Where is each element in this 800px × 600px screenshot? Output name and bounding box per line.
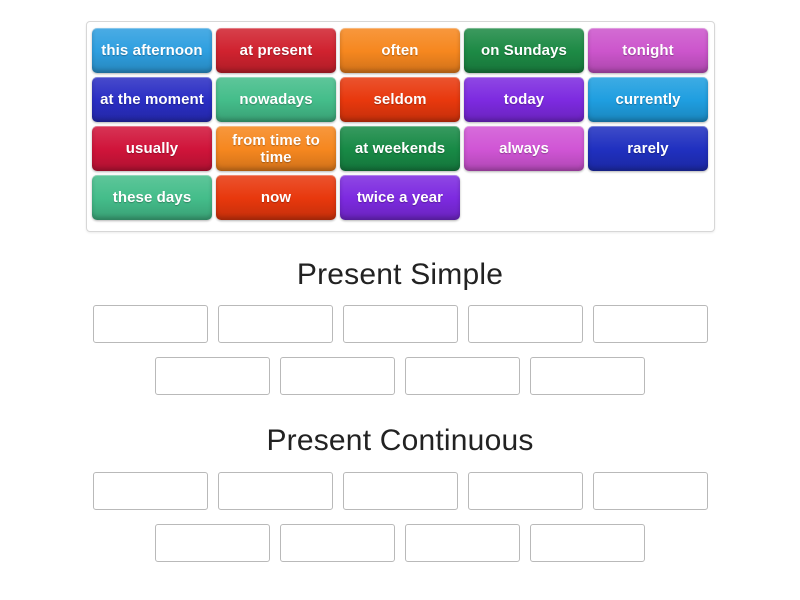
dropzone-slot[interactable] — [468, 305, 583, 343]
dropzone-row — [0, 524, 800, 562]
sorting-activity-page: this afternoonat presentoftenon Sundayst… — [0, 0, 800, 600]
word-tile[interactable]: this afternoon — [92, 28, 212, 73]
word-tile[interactable]: rarely — [588, 126, 708, 171]
tile-row: usuallyfrom time to timeat weekendsalway… — [92, 126, 709, 171]
dropzone-slot[interactable] — [155, 357, 270, 395]
word-tile[interactable]: now — [216, 175, 336, 220]
word-tile[interactable]: seldom — [340, 77, 460, 122]
word-tile[interactable]: tonight — [588, 28, 708, 73]
word-tile[interactable]: usually — [92, 126, 212, 171]
dropzone-slot[interactable] — [405, 357, 520, 395]
word-tile[interactable]: from time to time — [216, 126, 336, 171]
dropzone-row — [0, 357, 800, 395]
tile-rows: this afternoonat presentoftenon Sundayst… — [92, 28, 709, 220]
dropzone-row — [0, 305, 800, 343]
tile-row: this afternoonat presentoftenon Sundayst… — [92, 28, 709, 73]
dropzone-slot[interactable] — [593, 472, 708, 510]
word-tile[interactable]: twice a year — [340, 175, 460, 220]
dropzone-group-present-continuous — [0, 472, 800, 576]
word-tile[interactable]: often — [340, 28, 460, 73]
word-tile[interactable]: always — [464, 126, 584, 171]
dropzone-group-present-simple — [0, 305, 800, 409]
word-tile[interactable]: at weekends — [340, 126, 460, 171]
dropzone-slot[interactable] — [530, 524, 645, 562]
dropzone-row — [0, 472, 800, 510]
dropzone-slot[interactable] — [343, 472, 458, 510]
word-tile[interactable]: today — [464, 77, 584, 122]
dropzone-slot[interactable] — [280, 357, 395, 395]
tile-row: these daysnowtwice a year — [92, 175, 709, 220]
word-tile[interactable]: at present — [216, 28, 336, 73]
word-tile[interactable]: these days — [92, 175, 212, 220]
dropzone-slot[interactable] — [218, 472, 333, 510]
dropzone-slot[interactable] — [155, 524, 270, 562]
word-tile[interactable]: nowadays — [216, 77, 336, 122]
dropzone-slot[interactable] — [593, 305, 708, 343]
word-tile[interactable]: at the moment — [92, 77, 212, 122]
dropzone-slot[interactable] — [93, 472, 208, 510]
tile-row: at the momentnowadaysseldomtodaycurrentl… — [92, 77, 709, 122]
dropzone-slot[interactable] — [468, 472, 583, 510]
category-heading-present-continuous: Present Continuous — [0, 424, 800, 458]
dropzone-slot[interactable] — [93, 305, 208, 343]
word-tile-bank: this afternoonat presentoftenon Sundayst… — [86, 21, 715, 232]
word-tile[interactable]: currently — [588, 77, 708, 122]
word-tile[interactable]: on Sundays — [464, 28, 584, 73]
dropzone-slot[interactable] — [280, 524, 395, 562]
dropzone-slot[interactable] — [218, 305, 333, 343]
dropzone-slot[interactable] — [530, 357, 645, 395]
dropzone-slot[interactable] — [343, 305, 458, 343]
category-heading-present-simple: Present Simple — [0, 258, 800, 292]
dropzone-slot[interactable] — [405, 524, 520, 562]
